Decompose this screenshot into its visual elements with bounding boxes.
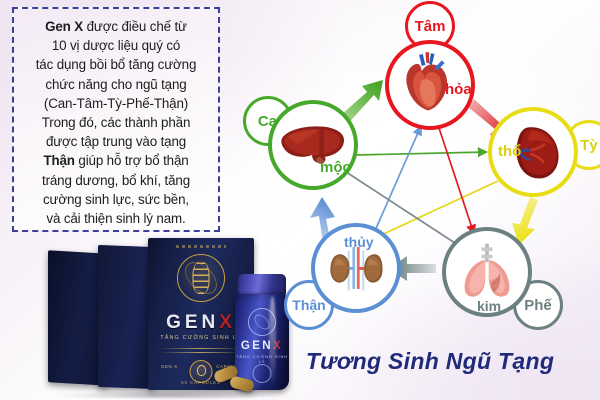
controlling-arrow-tam-to-phe [439,128,474,234]
lungs-icon [446,231,528,313]
box-divider-1 [160,348,242,349]
node-tam-hoa[interactable]: hỏa [385,40,475,130]
description-line-5: (Can-Tâm-Tỳ-Phế-Thận) [20,94,212,113]
node-phe-kim[interactable]: kim [442,227,532,317]
description-panel: Gen X được điều chế từ 10 vị dược liệu q… [12,7,220,232]
poster-canvas: Gen X được điều chế từ 10 vị dược liệu q… [0,0,600,400]
node-tag-label-phe: Phế [524,297,552,314]
description-line-6: Trong đó, các thành phần [20,113,212,132]
box-top-print [176,245,226,248]
wuxing-diagram: Tâm hỏa Can [255,0,600,400]
spleen-icon [492,111,574,193]
heart-icon [389,44,471,126]
product-shadow [54,391,278,400]
description-line-11: và cải thiện sinh lý nam. [20,209,212,228]
description-line-2: 10 vị dược liệu quý có [20,36,212,55]
description-line-7: được tập trung vào tạng [20,132,212,151]
description-line-9: tráng dương, bổ khí, tăng [20,171,212,190]
liver-icon [272,104,354,186]
description-line-3: tác dụng bồi bổ tăng cường [20,55,212,74]
kidney-term-inline: Thận [43,153,74,168]
brand-name-inline: Gen X [45,19,83,34]
description-line-1-rest: được điều chế từ [83,19,187,34]
controlling-arrow-can-to-ty [356,152,487,155]
description-line-10: cường sinh lực, sức bền, [20,190,212,209]
description-line-8: Thận giúp hỗ trợ bổ thận [20,151,212,170]
box-left-caption: GEN X [161,364,178,369]
product-box-middle [98,245,154,389]
description-line-1: Gen X được điều chế từ [20,17,212,36]
box-divider-2 [160,352,242,353]
dna-emblem-icon [177,254,225,302]
kidneys-icon [315,227,397,309]
node-than-thuy[interactable]: thủy [311,223,401,313]
description-line-4: chức năng cho ngũ tạng [20,75,212,94]
diagram-title: Tương Sinh Ngũ Tạng [285,348,575,375]
node-ty-tho[interactable]: thổ [488,107,578,197]
node-tag-label-ty: Tỳ [580,137,598,154]
node-can-moc[interactable]: mộc [268,100,358,190]
product-photo: GENX TĂNG CƯỜNG SINH LÝ GEN X CAPSULE 60… [48,228,284,400]
node-tag-label-tam: Tâm [415,18,446,35]
